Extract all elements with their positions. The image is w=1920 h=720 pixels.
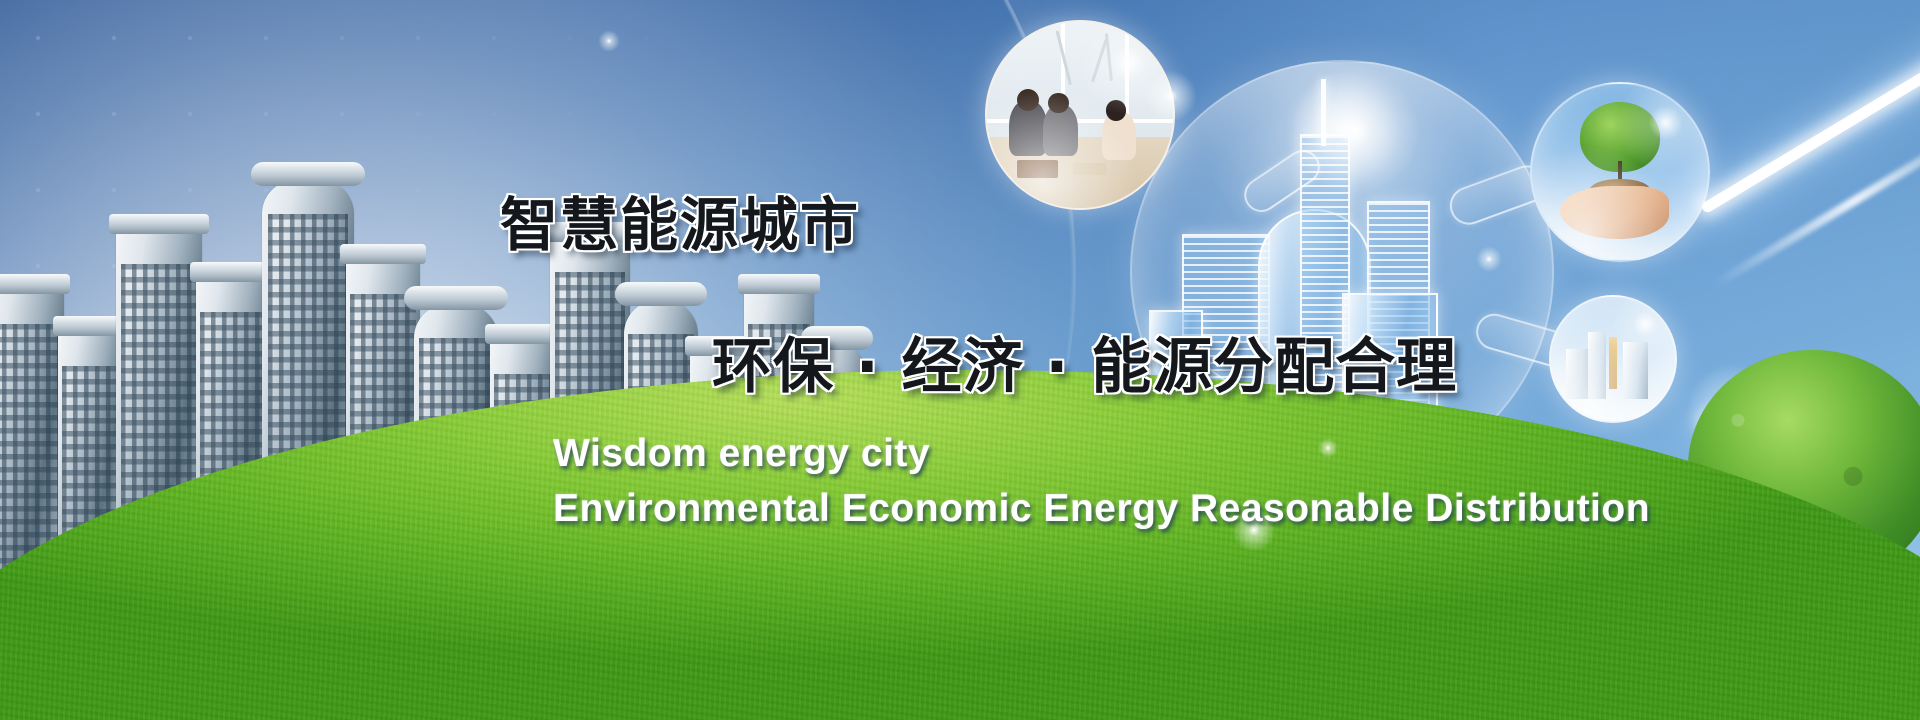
headline-english: Wisdom energy city [553, 432, 930, 476]
subheadline-chinese: 环保 · 经济 · 能源分配合理 [712, 318, 1457, 405]
subheadline-english: Environmental Economic Energy Reasonable… [553, 487, 1650, 531]
banner-copy: 智慧能源城市 环保 · 经济 · 能源分配合理 Wisdom energy ci… [0, 0, 1920, 720]
hero-banner: 智慧能源城市 环保 · 经济 · 能源分配合理 Wisdom energy ci… [0, 0, 1920, 720]
headline-chinese: 智慧能源城市 [500, 178, 860, 262]
